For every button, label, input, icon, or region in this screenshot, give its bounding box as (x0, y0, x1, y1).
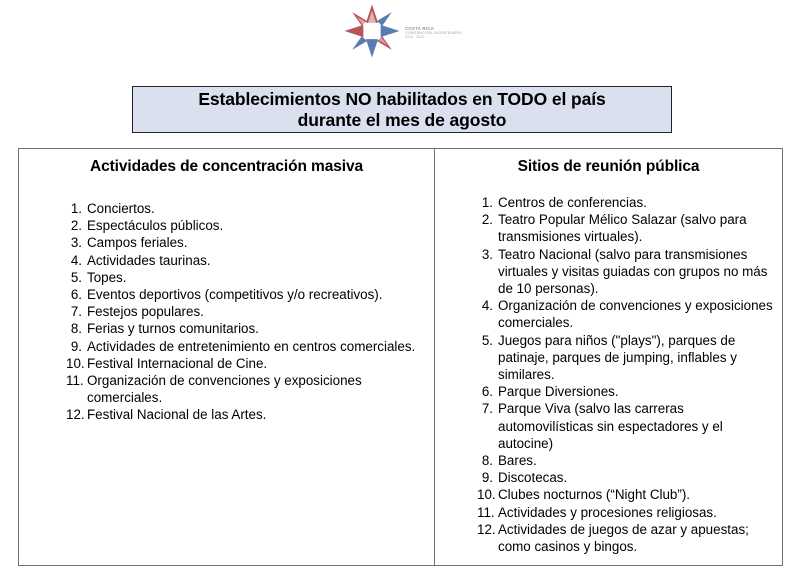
list-item: 7.Parque Viva (salvo las carreras automo… (477, 400, 777, 452)
list-item-text: Topes. (87, 269, 418, 286)
list-item-text: Organización de convenciones y exposicio… (87, 372, 418, 406)
list-item-text: Espectáculos públicos. (87, 217, 418, 234)
logo-area: COSTA RICA GOBIERNO DEL BICENTENARIO 201… (0, 0, 800, 62)
list-item-number: 3. (66, 234, 87, 251)
list-item-text: Parque Viva (salvo las carreras automovi… (498, 400, 777, 452)
list-public-meeting-places: 1.Centros de conferencias.2.Teatro Popul… (477, 194, 777, 555)
list-item: 12.Actividades de juegos de azar y apues… (477, 521, 777, 555)
list-item-number: 10. (66, 355, 87, 372)
list-item-text: Festival Nacional de las Artes. (87, 406, 418, 423)
list-item-number: 12. (477, 521, 498, 538)
title-banner: Establecimientos NO habilitados en TODO … (132, 86, 672, 133)
list-item: 11.Actividades y procesiones religiosas. (477, 504, 777, 521)
title-banner-line2: durante el mes de agosto (298, 110, 507, 131)
list-item-number: 9. (66, 338, 87, 355)
logo-wordmark-line3: 2018 - 2022 (405, 36, 459, 40)
list-item-number: 6. (477, 383, 498, 400)
list-item-text: Actividades taurinas. (87, 252, 418, 269)
list-item: 5.Juegos para niños ("plays"), parques d… (477, 332, 777, 384)
list-item-number: 1. (477, 194, 498, 211)
list-item-text: Juegos para niños ("plays"), parques de … (498, 332, 777, 384)
list-item: 4.Actividades taurinas. (66, 252, 418, 269)
list-item-text: Festival Internacional de Cine. (87, 355, 418, 372)
list-mass-gathering-activities: 1.Conciertos.2.Espectáculos públicos.3.C… (66, 200, 418, 424)
column-heading-left: Actividades de concentración masiva (19, 158, 434, 176)
list-item: 11.Organización de convenciones y exposi… (66, 372, 418, 406)
list-item-text: Teatro Nacional (salvo para transmisione… (498, 246, 777, 298)
list-item-text: Bares. (498, 452, 777, 469)
list-item-text: Festejos populares. (87, 303, 418, 320)
list-item-text: Clubes nocturnos (“Night Club”). (498, 486, 777, 503)
list-item-text: Actividades de juegos de azar y apuestas… (498, 521, 777, 555)
list-item-text: Actividades y procesiones religiosas. (498, 504, 777, 521)
list-item-number: 7. (66, 303, 87, 320)
costa-rica-star-logo (341, 3, 403, 59)
list-item-number: 11. (477, 504, 498, 521)
list-item: 10.Clubes nocturnos (“Night Club”). (477, 486, 777, 503)
list-item: 1.Conciertos. (66, 200, 418, 217)
list-item: 5.Topes. (66, 269, 418, 286)
list-item-number: 5. (477, 332, 498, 349)
title-banner-line1: Establecimientos NO habilitados en TODO … (198, 89, 605, 110)
list-item-number: 9. (477, 469, 498, 486)
list-item-text: Discotecas. (498, 469, 777, 486)
list-item-text: Ferias y turnos comunitarios. (87, 320, 418, 337)
list-item-number: 4. (66, 252, 87, 269)
column-heading-right: Sitios de reunión pública (435, 158, 782, 176)
list-item-number: 2. (66, 217, 87, 234)
list-item-text: Conciertos. (87, 200, 418, 217)
list-item-number: 12. (66, 406, 87, 423)
list-item-text: Actividades de entretenimiento en centro… (87, 338, 418, 355)
list-item-number: 8. (66, 320, 87, 337)
list-item: 8.Bares. (477, 452, 777, 469)
list-item: 6.Eventos deportivos (competitivos y/o r… (66, 286, 418, 303)
restrictions-table: Actividades de concentración masiva 1.Co… (18, 148, 783, 566)
list-item-text: Centros de conferencias. (498, 194, 777, 211)
list-item-text: Organización de convenciones y exposicio… (498, 297, 777, 331)
list-item-number: 6. (66, 286, 87, 303)
list-item: 3.Teatro Nacional (salvo para transmisio… (477, 246, 777, 298)
list-item-text: Teatro Popular Mélico Salazar (salvo par… (498, 211, 777, 245)
list-item: 9.Actividades de entretenimiento en cent… (66, 338, 418, 355)
list-item-text: Campos feriales. (87, 234, 418, 251)
list-item-text: Parque Diversiones. (498, 383, 777, 400)
table-column-mass-gathering-activities: Actividades de concentración masiva 1.Co… (19, 149, 435, 565)
list-item-number: 11. (66, 372, 87, 389)
list-item: 6.Parque Diversiones. (477, 383, 777, 400)
list-item: 7.Festejos populares. (66, 303, 418, 320)
list-item-number: 7. (477, 400, 498, 417)
list-item: 4.Organización de convenciones y exposic… (477, 297, 777, 331)
list-item-number: 8. (477, 452, 498, 469)
table-column-public-meeting-places: Sitios de reunión pública 1.Centros de c… (435, 149, 782, 565)
list-item-number: 2. (477, 211, 498, 228)
list-item: 1.Centros de conferencias. (477, 194, 777, 211)
list-item: 2.Espectáculos públicos. (66, 217, 418, 234)
list-item: 12.Festival Nacional de las Artes. (66, 406, 418, 423)
list-item: 2.Teatro Popular Mélico Salazar (salvo p… (477, 211, 777, 245)
logo-wordmark: COSTA RICA GOBIERNO DEL BICENTENARIO 201… (405, 27, 459, 39)
list-item: 10.Festival Internacional de Cine. (66, 355, 418, 372)
list-item-number: 4. (477, 297, 498, 314)
list-item-number: 3. (477, 246, 498, 263)
list-item-number: 10. (477, 486, 498, 503)
list-item: 8.Ferias y turnos comunitarios. (66, 320, 418, 337)
list-item-text: Eventos deportivos (competitivos y/o rec… (87, 286, 418, 303)
list-item-number: 1. (66, 200, 87, 217)
costa-rica-logo: COSTA RICA GOBIERNO DEL BICENTENARIO 201… (341, 3, 459, 59)
list-item: 9.Discotecas. (477, 469, 777, 486)
list-item-number: 5. (66, 269, 87, 286)
list-item: 3.Campos feriales. (66, 234, 418, 251)
